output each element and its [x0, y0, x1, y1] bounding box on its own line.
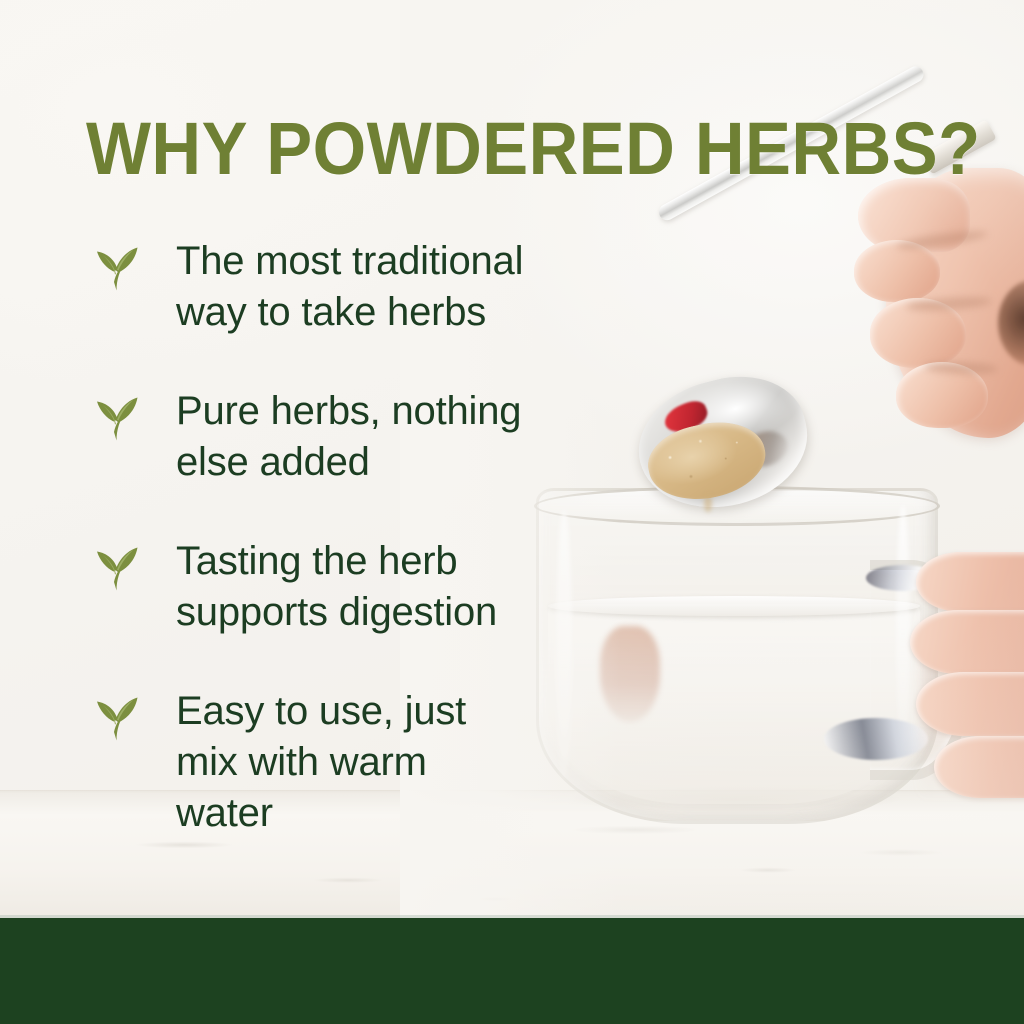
infographic-canvas: WHY POWDERED HERBS? The most traditional…: [0, 0, 1024, 1024]
list-item: The most traditional way to take herbs: [86, 236, 556, 338]
leaf-sprout-icon: [86, 540, 142, 596]
finger-index: [916, 552, 1024, 612]
finger-ring: [916, 672, 1024, 736]
list-item: Easy to use, just mix with warm water: [86, 686, 556, 839]
list-item: Pure herbs, nothing else added: [86, 386, 556, 488]
leaf-sprout-icon: [86, 240, 142, 296]
list-item: Tasting the herb supports digestion: [86, 536, 556, 638]
mug-waterline: [548, 596, 920, 616]
list-item-label: Pure herbs, nothing else added: [176, 386, 556, 488]
hand-holding-mug: [906, 540, 1024, 820]
benefits-list: The most traditional way to take herbs P…: [86, 236, 556, 839]
hand-holding-spoon: [848, 148, 1024, 478]
mug-highlight-left: [556, 510, 572, 780]
list-item-label: Easy to use, just mix with warm water: [176, 686, 556, 839]
list-item-label: Tasting the herb supports digestion: [176, 536, 556, 638]
bottom-brand-bar: [0, 918, 1024, 1024]
leaf-sprout-icon: [86, 390, 142, 446]
leaf-sprout-icon: [86, 690, 142, 746]
page-title: WHY POWDERED HERBS?: [86, 112, 981, 186]
list-item-label: The most traditional way to take herbs: [176, 236, 556, 338]
falling-powder: [704, 494, 712, 512]
water-refraction: [600, 626, 660, 722]
finger-little: [934, 736, 1024, 798]
finger-middle: [910, 610, 1024, 674]
fingertip-index: [854, 240, 940, 302]
mug-water: [548, 604, 920, 804]
